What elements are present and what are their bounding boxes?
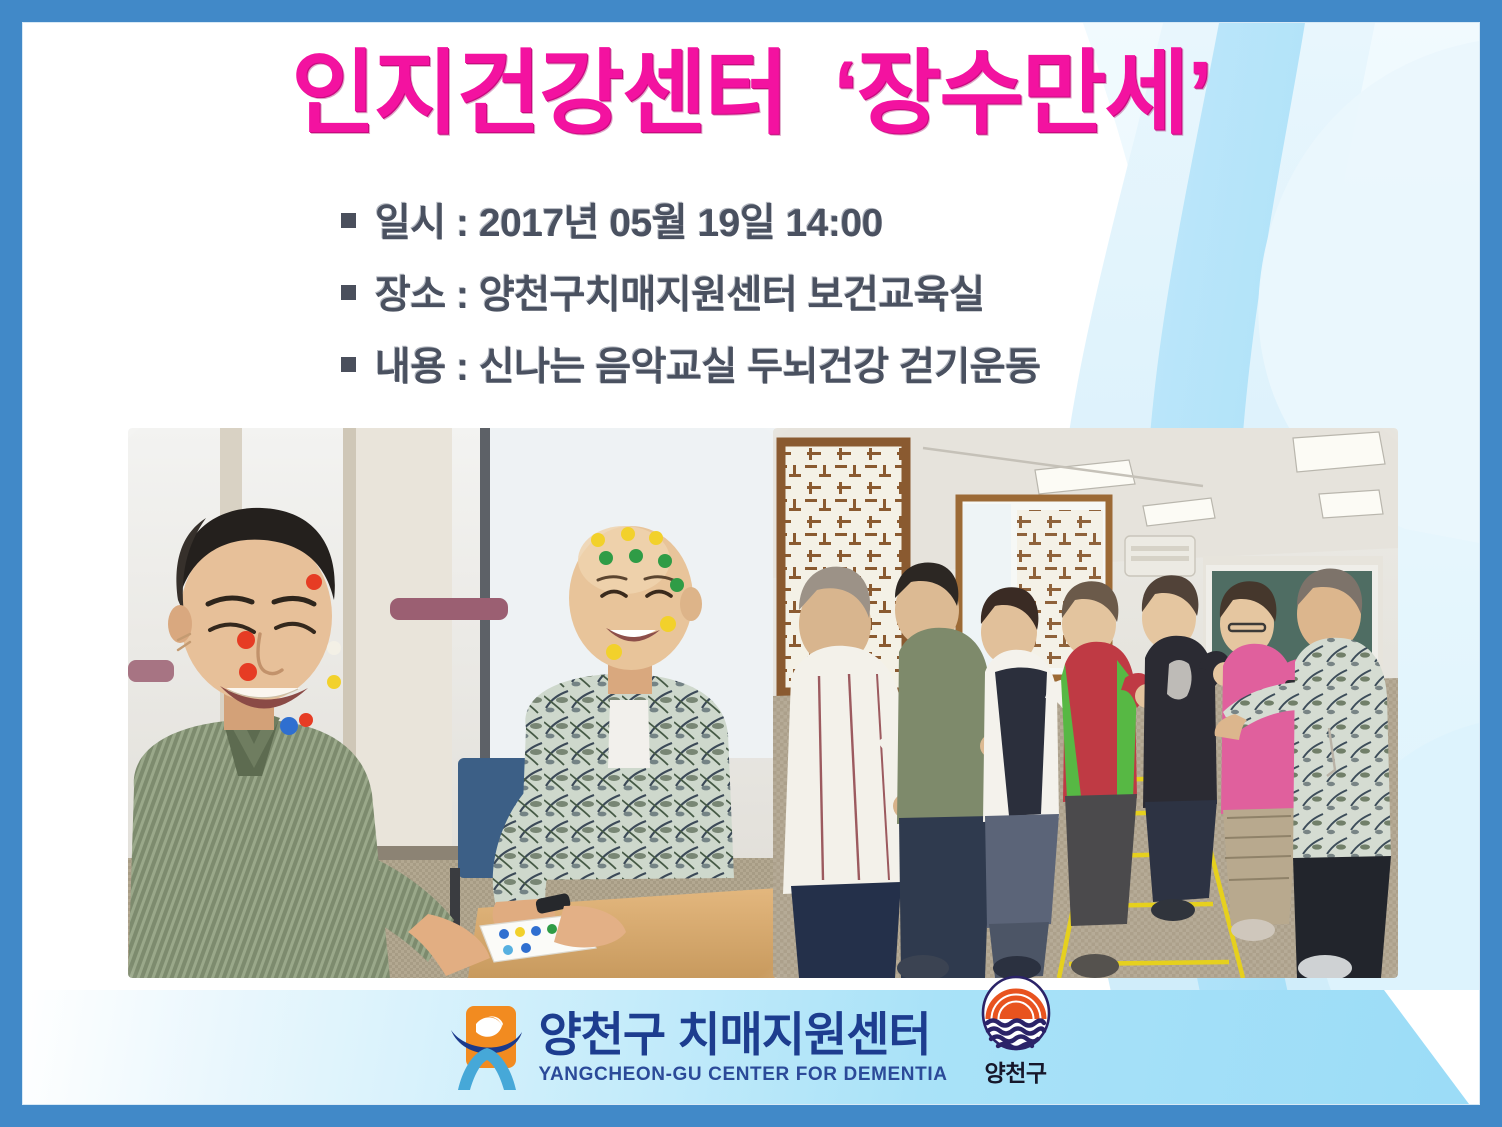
- info-location-text: 장소 : 양천구치매지원센터 보건교육실: [375, 264, 985, 320]
- info-row-datetime: 일시 : 2017년 05월 19일 14:00: [341, 195, 1241, 245]
- center-name-korean: 양천구 치매지원센터: [538, 1011, 947, 1058]
- photo-walking-exercise: [773, 428, 1398, 978]
- center-logo-text: 양천구 치매지원센터 YANGCHEON-GU CENTER FOR DEMEN…: [538, 1011, 947, 1084]
- dementia-center-logo-icon: [450, 1004, 524, 1090]
- bullet-square-icon: [341, 285, 356, 300]
- event-info-list: 일시 : 2017년 05월 19일 14:00 장소 : 양천구치매지원센터 …: [341, 195, 1241, 411]
- photo-sticker-activity: [128, 428, 778, 978]
- photo-gallery: [128, 428, 1398, 978]
- district-emblem-icon: [980, 975, 1052, 1051]
- title-main: 인지건강센터: [291, 43, 787, 145]
- info-row-location: 장소 : 양천구치매지원센터 보건교육실: [341, 267, 1241, 317]
- yangcheon-gu-emblem: 양천구: [980, 975, 1052, 1088]
- poster-root: 인지건강센터‘장수만세’ 일시 : 2017년 05월 19일 14:00 장소…: [0, 0, 1502, 1127]
- info-row-content: 내용 : 신나는 음악교실 두뇌건강 걷기운동: [341, 339, 1241, 389]
- info-content-text: 내용 : 신나는 음악교실 두뇌건강 걷기운동: [375, 336, 1041, 392]
- center-name-english: YANGCHEON-GU CENTER FOR DEMENTIA: [538, 1065, 947, 1084]
- title-program: ‘장수만세’: [833, 43, 1211, 145]
- center-logo: 양천구 치매지원센터 YANGCHEON-GU CENTER FOR DEMEN…: [450, 1004, 947, 1090]
- bullet-square-icon: [341, 213, 356, 228]
- info-datetime-text: 일시 : 2017년 05월 19일 14:00: [375, 192, 883, 248]
- bullet-square-icon: [341, 357, 356, 372]
- footer-logo-lockup: 양천구 치매지원센터 YANGCHEON-GU CENTER FOR DEMEN…: [23, 975, 1479, 1090]
- district-label: 양천구: [985, 1054, 1047, 1088]
- poster-canvas: 인지건강센터‘장수만세’ 일시 : 2017년 05월 19일 14:00 장소…: [23, 23, 1479, 1104]
- page-title: 인지건강센터‘장수만세’: [23, 45, 1479, 144]
